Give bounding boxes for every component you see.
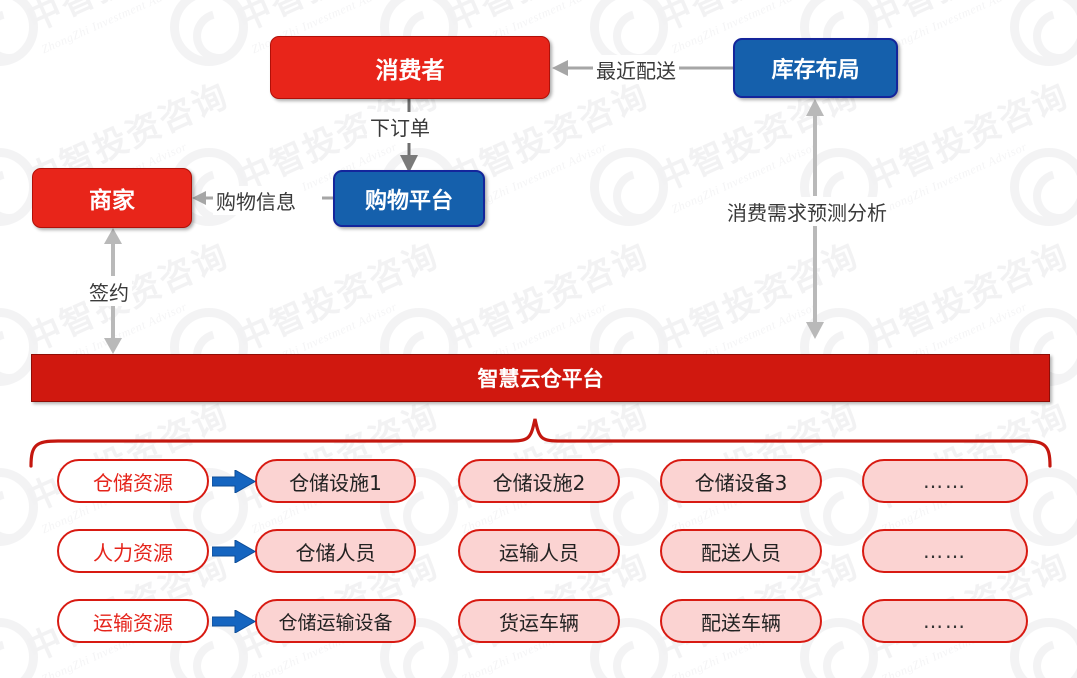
resource-item-pill[interactable]: 仓储设施2 (458, 459, 620, 503)
resource-item-label: 货运车辆 (499, 607, 579, 636)
node-consumer-label: 消费者 (376, 51, 445, 85)
resource-item-pill[interactable]: 仓储人员 (255, 529, 416, 573)
resource-item-label: 运输人员 (499, 537, 579, 566)
node-cloud-platform-label: 智慧云仓平台 (478, 363, 604, 393)
resource-item-label: 仓储人员 (296, 537, 376, 566)
resource-item-pill[interactable]: …… (862, 459, 1028, 503)
resource-item-pill[interactable]: 配送人员 (660, 529, 822, 573)
edge-label-place-order: 下订单 (367, 112, 433, 141)
blue-arrow-icon (212, 610, 256, 633)
resource-item-label: 仓储设施1 (289, 467, 382, 496)
resource-category-pill[interactable]: 人力资源 (57, 529, 209, 573)
resource-item-pill[interactable]: 仓储运输设备 (255, 599, 416, 643)
blue-arrow-icon (212, 470, 256, 493)
resource-item-label: …… (923, 469, 967, 493)
resource-item-label: 仓储设备3 (695, 467, 788, 496)
diagram-canvas: 中智投资咨询ZhongZhi Investment Advisor中智投资咨询Z… (0, 0, 1077, 678)
node-merchant[interactable]: 商家 (32, 168, 192, 228)
edge-label-sign-contract: 签约 (86, 277, 132, 306)
node-cloud-platform[interactable]: 智慧云仓平台 (31, 354, 1050, 402)
resource-item-label: 配送人员 (701, 537, 781, 566)
node-merchant-label: 商家 (89, 181, 135, 215)
resource-item-label: 配送车辆 (701, 607, 781, 636)
resource-item-pill[interactable]: …… (862, 599, 1028, 643)
edge-label-demand-forecast: 消费需求预测分析 (724, 197, 890, 226)
resource-item-pill[interactable]: 货运车辆 (458, 599, 620, 643)
resource-category-label: 仓储资源 (93, 467, 173, 496)
resource-item-pill[interactable]: 配送车辆 (660, 599, 822, 643)
resource-category-pill[interactable]: 仓储资源 (57, 459, 209, 503)
node-consumer[interactable]: 消费者 (270, 36, 550, 99)
node-shopping-platform-label: 购物平台 (365, 183, 453, 215)
node-inventory-layout-label: 库存布局 (771, 52, 859, 84)
resource-category-label: 人力资源 (93, 537, 173, 566)
edge-label-nearest-delivery: 最近配送 (593, 55, 679, 84)
edge-label-shopping-info: 购物信息 (213, 186, 299, 215)
resource-item-label: 仓储设施2 (493, 467, 586, 496)
resource-item-pill[interactable]: 运输人员 (458, 529, 620, 573)
resource-category-pill[interactable]: 运输资源 (57, 599, 209, 643)
node-shopping-platform[interactable]: 购物平台 (333, 170, 485, 227)
resource-item-label: …… (923, 609, 967, 633)
resource-item-pill[interactable]: …… (862, 529, 1028, 573)
resource-item-pill[interactable]: 仓储设施1 (255, 459, 416, 503)
resource-item-label: 仓储运输设备 (278, 608, 392, 635)
resource-category-label: 运输资源 (93, 607, 173, 636)
resource-item-pill[interactable]: 仓储设备3 (660, 459, 822, 503)
node-inventory-layout[interactable]: 库存布局 (733, 38, 898, 98)
resource-item-label: …… (923, 539, 967, 563)
blue-arrow-icon (212, 540, 256, 563)
connector-layer (0, 0, 1077, 678)
